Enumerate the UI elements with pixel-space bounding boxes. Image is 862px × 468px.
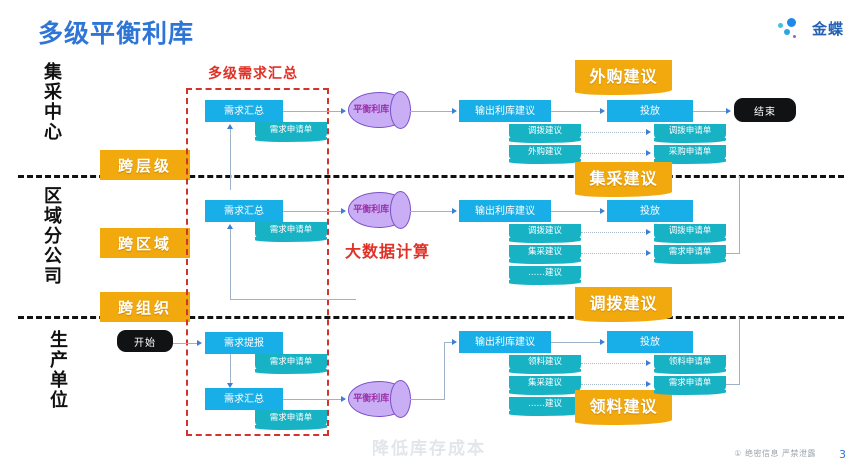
terminator-start[interactable]: 开始 [117, 330, 173, 352]
arrow-row2-transfer-icon [646, 229, 651, 235]
row3-suggestion-material[interactable]: 领料建议 [509, 355, 581, 371]
row2-balance-stock-label: 平衡利库 [352, 205, 390, 215]
row3-suggestion-other[interactable]: ……建议 [509, 397, 581, 413]
row3-suggestion-central[interactable]: 集采建议 [509, 376, 581, 392]
arrow-row1-to-cylinder-icon [341, 108, 346, 114]
row3-balance-stock-label: 平衡利库 [352, 394, 390, 404]
brand-name: 金蝶 [812, 18, 844, 39]
banner-transfer: 调拨建议 [575, 287, 672, 317]
page-number: 3 [839, 448, 846, 461]
multi-level-demand-label: 多级需求汇总 [208, 63, 298, 83]
arrow-row1-to-end-icon [726, 108, 731, 114]
row3-form-material[interactable]: 领料申请单 [654, 355, 726, 371]
connector-row2-cylinder-to-output [410, 211, 454, 212]
row1-balance-stock-label: 平衡利库 [352, 105, 390, 115]
row2-output-suggestion[interactable]: 输出利库建议 [459, 200, 551, 222]
row1-suggestion-purchase[interactable]: 外购建议 [509, 145, 581, 161]
row2-demand-summary[interactable]: 需求汇总 [205, 200, 283, 222]
chip-cross-region[interactable]: 跨区域 [100, 228, 190, 258]
connector-start-to-report [173, 343, 198, 344]
arrow-row3-to-cylinder-icon [341, 396, 346, 402]
connector-row2-up-to-row1 [230, 128, 231, 190]
row3-demand-request-form[interactable]: 需求申请单 [255, 410, 327, 427]
confidential-notice: ① 绝密信息 严禁泄露 [734, 448, 816, 459]
arrow-row1-to-dispatch-icon [600, 108, 605, 114]
arrow-report-down-icon [227, 383, 233, 388]
connector-row1-output-to-dispatch [551, 111, 602, 112]
row2-suggestion-other[interactable]: ……建议 [509, 266, 581, 282]
slide-root: 多级平衡利库 金蝶 集采中心 区域分公司 生产单位 跨层级 跨区域 跨组织 多级… [0, 0, 862, 468]
connector-row3-cyl-up [444, 342, 445, 400]
row1-output-suggestion[interactable]: 输出利库建议 [459, 100, 551, 122]
arrow-row2-up-icon [227, 124, 233, 129]
row2-form-demand[interactable]: 需求申请单 [654, 245, 726, 261]
connector-row1-purchase-dotted [581, 153, 647, 154]
connector-row1-transfer-dotted [581, 132, 647, 133]
row3-demand-summary[interactable]: 需求汇总 [205, 388, 283, 410]
brand-logo: 金蝶 [775, 16, 844, 40]
connector-row3-up-to-row2 [230, 228, 231, 300]
terminator-end[interactable]: 结束 [734, 98, 796, 122]
arrow-row2-central-icon [646, 250, 651, 256]
arrow-row2-to-output-icon [452, 208, 457, 214]
banner-material-issue: 领料建议 [575, 390, 672, 420]
arrow-row3-to-output-icon [452, 339, 457, 345]
row1-demand-request-form[interactable]: 需求申请单 [255, 122, 327, 139]
arrow-row1-purchase-icon [646, 150, 651, 156]
arrow-row3-up-icon [227, 224, 233, 229]
connector-row1-cylinder-to-output [410, 111, 454, 112]
connector-row3-cyl-to-vertical [230, 299, 356, 300]
arrow-row1-transfer-icon [646, 129, 651, 135]
arrow-start-icon [197, 340, 202, 346]
watermark-text: 降低库存成本 [372, 434, 486, 459]
arrow-row1-to-output-icon [452, 108, 457, 114]
arrow-row2-to-cylinder-icon [341, 208, 346, 214]
arrow-row3-central-icon [646, 381, 651, 387]
connector-row3-central-dotted [581, 384, 647, 385]
banner-central-purchase: 集采建议 [575, 162, 672, 192]
connector-row2-central-dotted [581, 253, 647, 254]
connector-row3-output-to-dispatch [551, 342, 602, 343]
row3-output-suggestion[interactable]: 输出利库建议 [459, 331, 551, 353]
connector-row3-material-dotted [581, 363, 647, 364]
connector-row3-cylinder-right [410, 399, 445, 400]
chip-cross-organization[interactable]: 跨组织 [100, 292, 190, 322]
big-data-compute-label: 大数据计算 [345, 238, 430, 262]
row1-balance-stock-cylinder[interactable]: 平衡利库 [348, 92, 410, 128]
row3-demand-report[interactable]: 需求提报 [205, 332, 283, 354]
row3-form-demand[interactable]: 需求申请单 [654, 376, 726, 392]
connector-row2-form-right [726, 253, 740, 254]
connector-row2-summary-to-cylinder [283, 211, 345, 212]
connector-report-to-summary [230, 354, 231, 384]
page-title: 多级平衡利库 [38, 14, 194, 50]
connector-row1-dispatch-to-end [693, 111, 727, 112]
banner-external-purchase: 外购建议 [575, 60, 672, 90]
arrow-row2-to-dispatch-icon [600, 208, 605, 214]
connector-row3-summary-to-cylinder [283, 399, 345, 400]
connector-row3-form-right [726, 384, 740, 385]
connector-row2-output-to-dispatch [551, 211, 602, 212]
row3-demand-report-form[interactable]: 需求申请单 [255, 354, 327, 371]
arrow-row3-to-dispatch-icon [600, 339, 605, 345]
connector-row2-transfer-dotted [581, 232, 647, 233]
row1-form-purchase[interactable]: 采购申请单 [654, 145, 726, 161]
connector-row1-summary-to-cylinder [283, 111, 345, 112]
row3-balance-stock-cylinder[interactable]: 平衡利库 [348, 381, 410, 417]
connector-row2-form-up [739, 176, 740, 253]
chip-cross-level[interactable]: 跨层级 [100, 150, 190, 180]
row1-dispatch[interactable]: 投放 [607, 100, 693, 122]
row2-balance-stock-cylinder[interactable]: 平衡利库 [348, 192, 410, 228]
row2-demand-request-form[interactable]: 需求申请单 [255, 222, 327, 239]
row2-suggestion-transfer[interactable]: 调拨建议 [509, 224, 581, 240]
row2-suggestion-central[interactable]: 集采建议 [509, 245, 581, 261]
kingdee-dots-logo-icon [775, 16, 805, 40]
lane-title-production-unit: 生产单位 [48, 330, 66, 410]
lane-title-regional-branch: 区域分公司 [42, 186, 60, 286]
row1-demand-summary[interactable]: 需求汇总 [205, 100, 283, 122]
row1-suggestion-transfer[interactable]: 调拨建议 [509, 124, 581, 140]
connector-row3-form-up [739, 317, 740, 384]
row2-form-transfer[interactable]: 调拨申请单 [654, 224, 726, 240]
row2-dispatch[interactable]: 投放 [607, 200, 693, 222]
lane-title-procurement-center: 集采中心 [42, 62, 60, 142]
arrow-row3-material-icon [646, 360, 651, 366]
row3-dispatch[interactable]: 投放 [607, 331, 693, 353]
row1-form-transfer[interactable]: 调拨申请单 [654, 124, 726, 140]
